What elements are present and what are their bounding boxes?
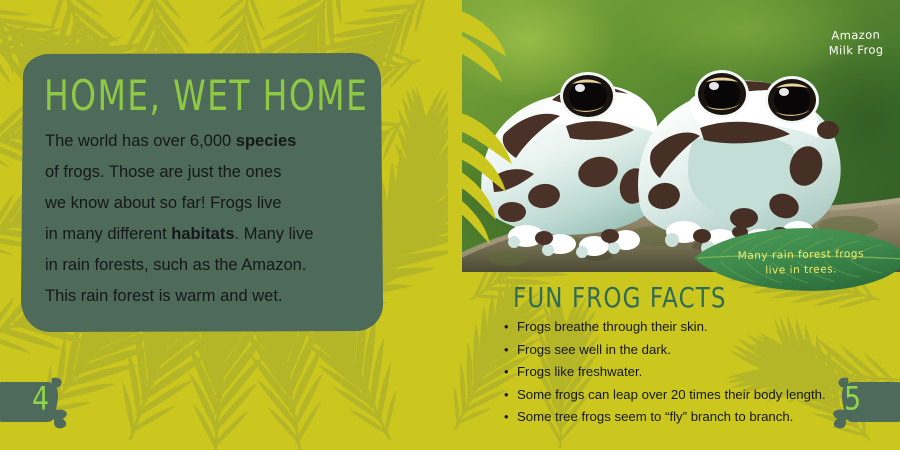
body-line: in rain forests, such as the Amazon. [45, 250, 375, 281]
photo-caption-line2: Milk Frog [810, 42, 900, 59]
page-number-left: 4 [32, 381, 49, 418]
body-line: we know about so far! Frogs live [45, 188, 375, 219]
photo-caption-label: Amazon Milk Frog [810, 27, 900, 59]
body-line: The world has over 6,000 species [45, 126, 375, 157]
page-title: HOME, WET HOME [44, 72, 364, 121]
photo-edge-fronds [448, 0, 518, 272]
page-tag-shape-right [826, 372, 900, 430]
body-line: in many different habitats. Many live [45, 219, 375, 250]
body-paragraph: The world has over 6,000 species of frog… [45, 126, 375, 312]
body-line: of frogs. Those are just the ones [45, 157, 375, 188]
page-number-right: 5 [844, 381, 861, 418]
fact-item: Frogs breathe through their skin. [504, 316, 892, 339]
fact-item: Frogs see well in the dark. [504, 339, 892, 362]
leaf-callout-text: Many rain forest frogs live in trees. [708, 246, 894, 279]
book-spread: HOME, WET HOME The world has over 6,000 … [0, 0, 900, 450]
page-number-tag-left: 4 [0, 372, 74, 430]
facts-heading: FUN FROG FACTS [513, 283, 727, 314]
body-line: This rain forest is warm and wet. [45, 281, 375, 312]
page-number-tag-right: 5 [826, 372, 900, 430]
